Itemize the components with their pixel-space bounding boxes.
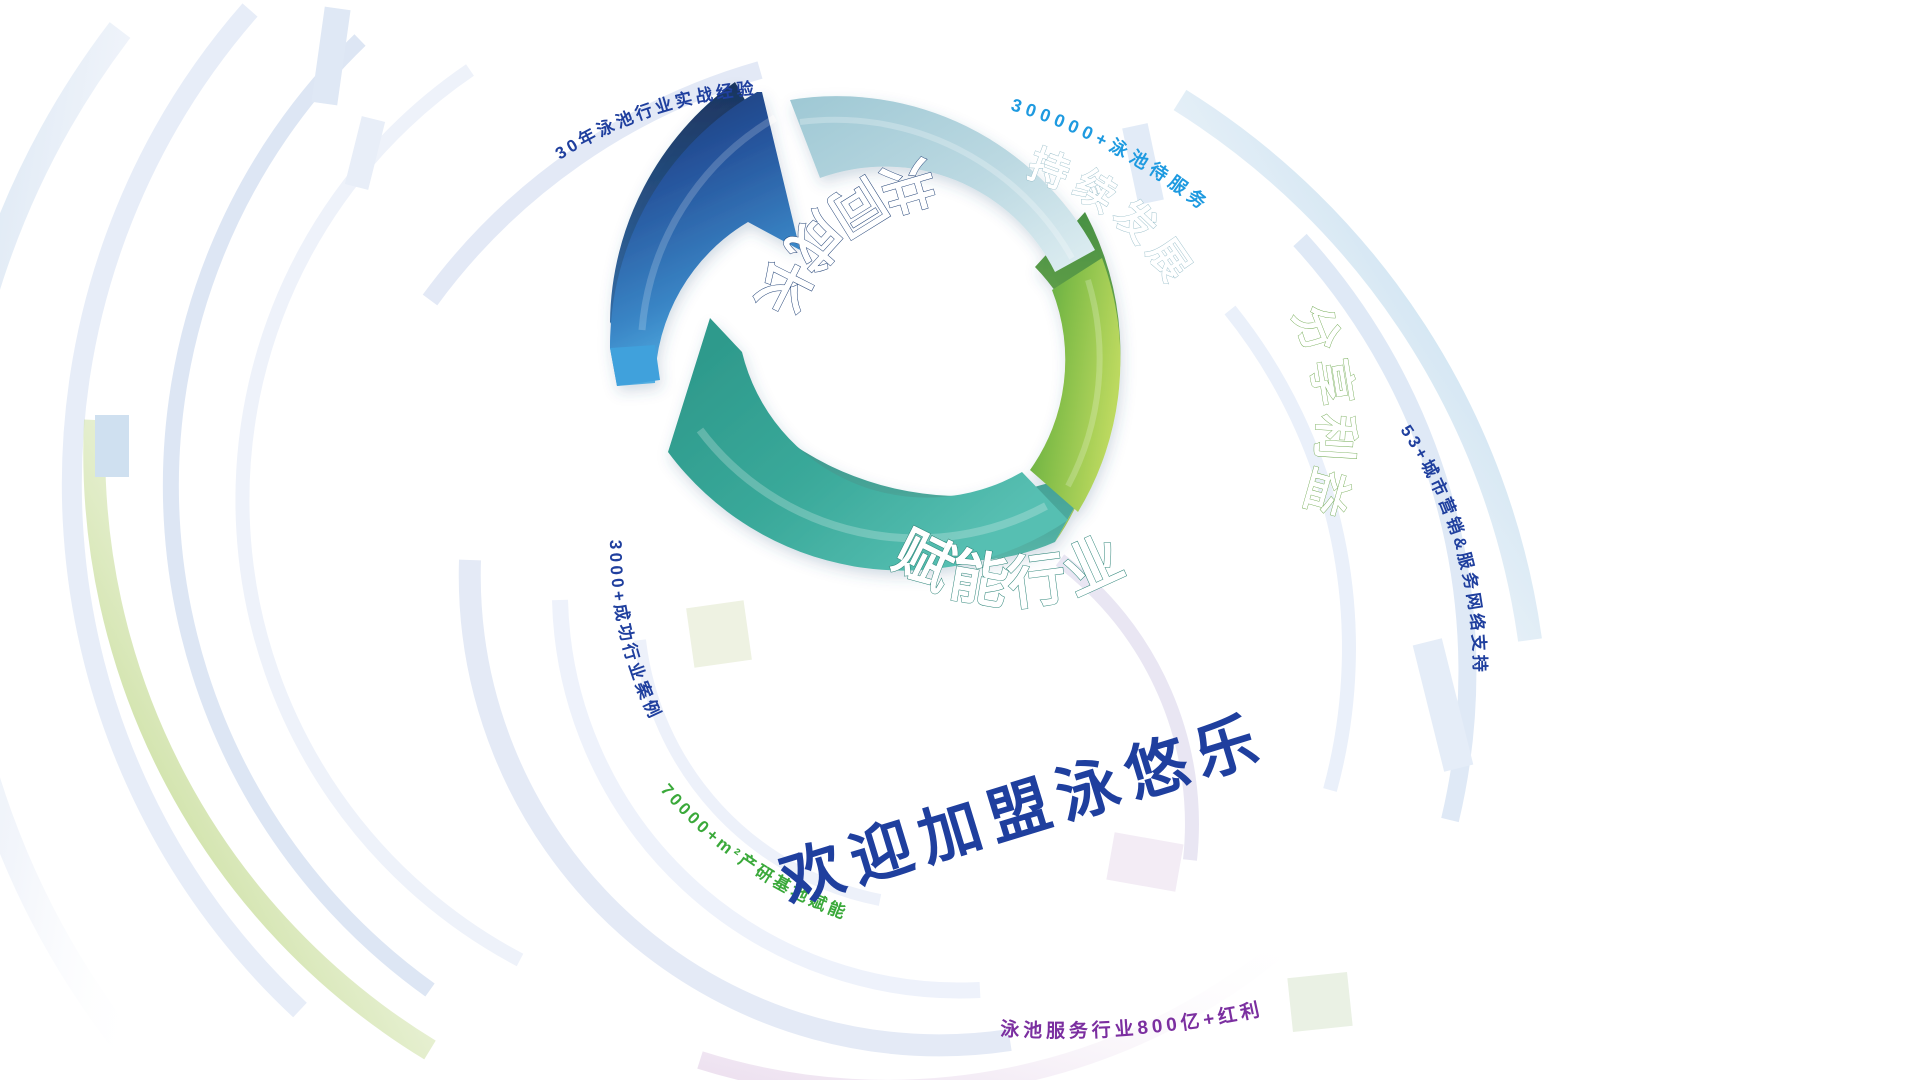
seg-growth-lower-tip [610,345,660,386]
cycle-diagram-svg: 共同成长 持续发展 分享利益 赋能行业 30年泳池行业实战经验 300000+泳… [0,0,1920,1080]
headline-group: 欢迎加盟泳悠乐 [772,704,1275,918]
infographic-canvas: 共同成长 持续发展 分享利益 赋能行业 30年泳池行业实战经验 300000+泳… [0,0,1920,1080]
stat-market: 泳池服务行业800亿+红利 [1000,998,1266,1042]
page-title: 欢迎加盟泳悠乐 [772,704,1275,918]
